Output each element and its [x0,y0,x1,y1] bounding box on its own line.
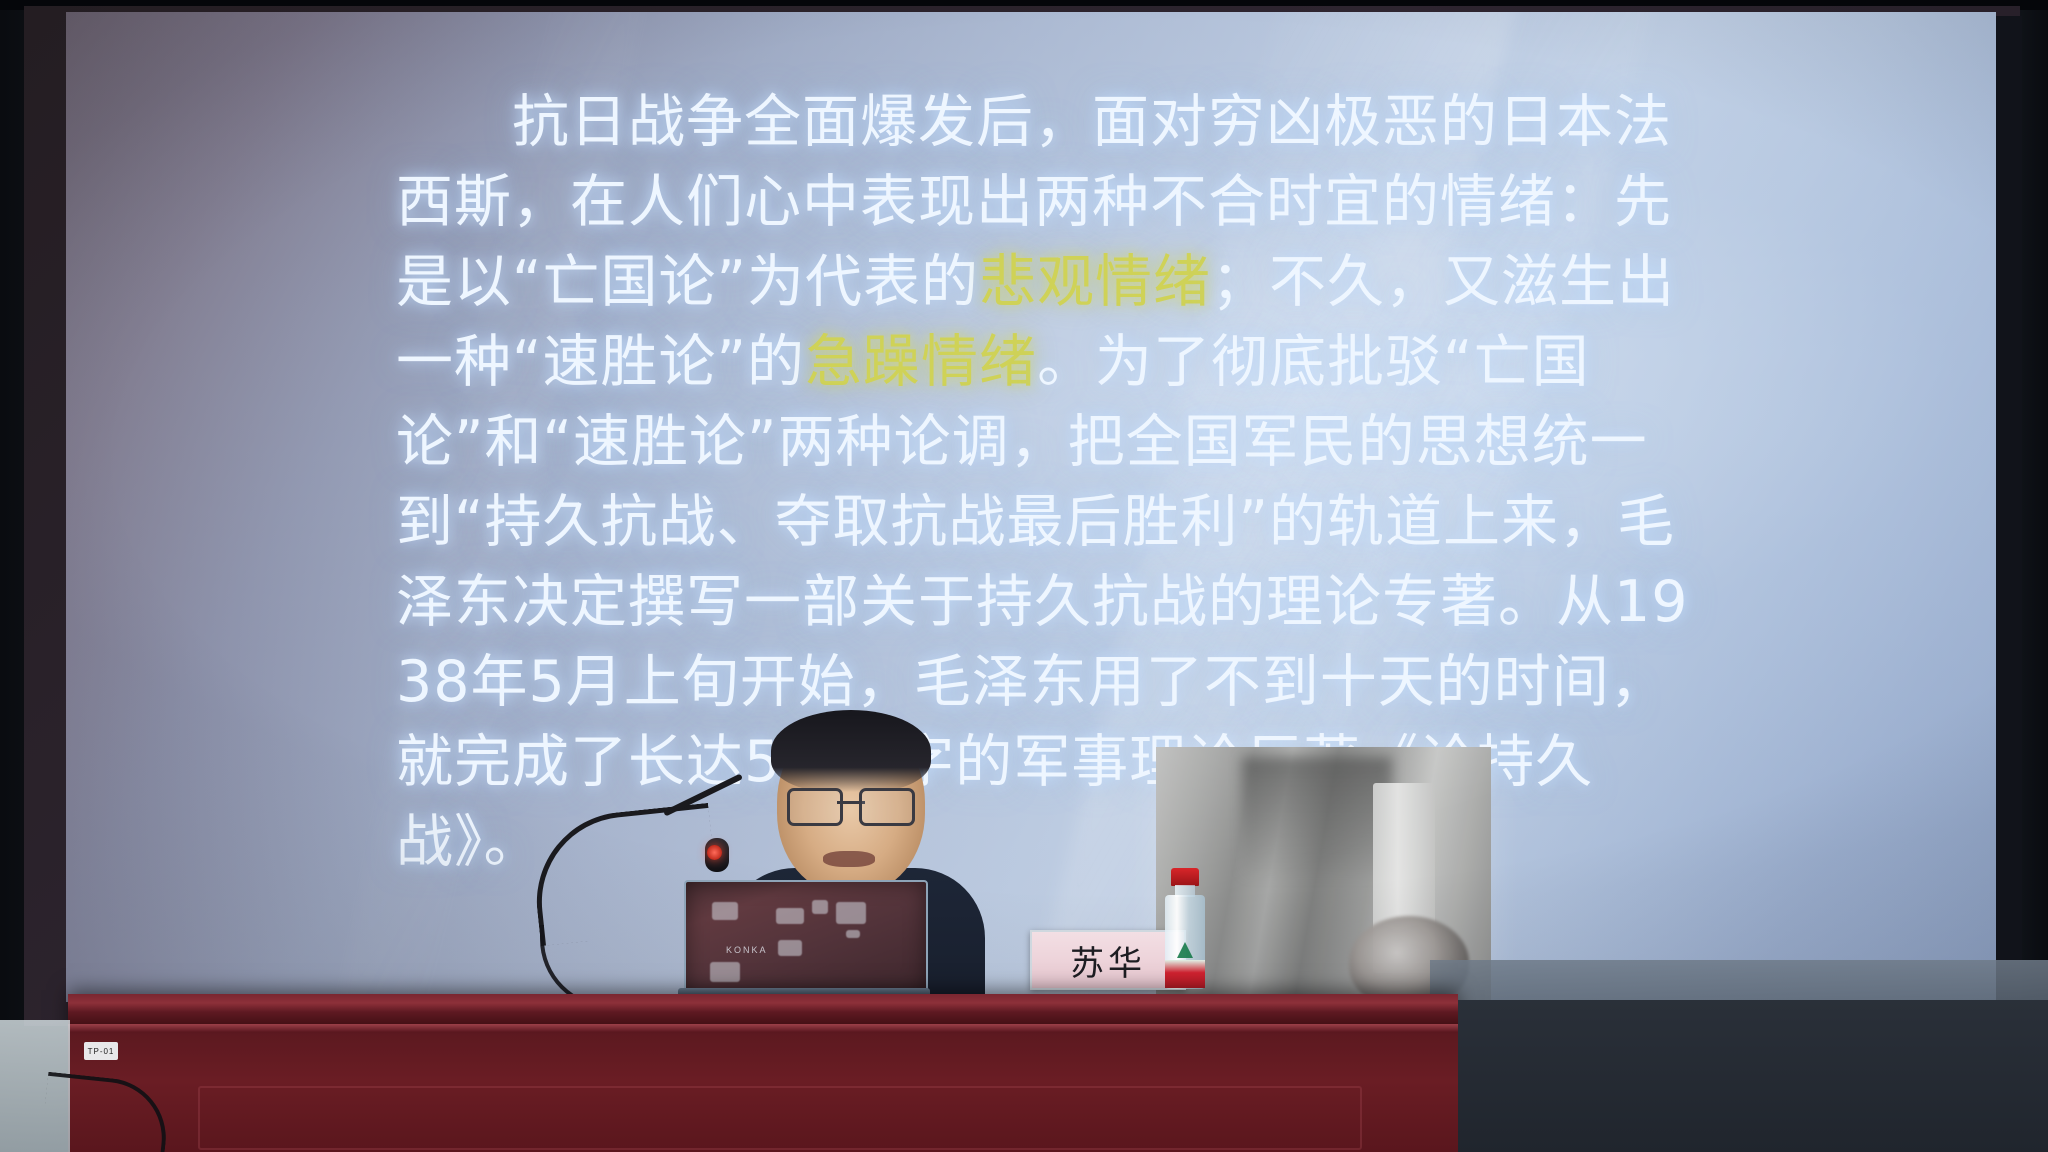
laptop-sticker [836,902,866,924]
glasses-left-lens [787,788,843,826]
laptop-sticker [778,940,802,956]
podium-right-section [1458,1000,2048,1152]
podium-label-tag: TP-01 [84,1042,118,1060]
laptop-brand-label: KONKA [726,945,768,955]
laptop-lid: KONKA [684,880,928,996]
projected-slide: 抗日战争全面爆发后，面对穷凶极恶的日本法西斯，在人们心中表现出两种不合时宜的情绪… [66,12,1996,1002]
podium-front-panel [198,1086,1362,1150]
microphone-indicator-light[interactable] [707,845,722,860]
slide-highlight-phrase: 急躁情绪 [805,329,1037,395]
slide-body-text: 抗日战争全面爆发后，面对穷凶极恶的日本法西斯，在人们心中表现出两种不合时宜的情绪… [396,82,1696,882]
podium-trim [68,1024,1458,1032]
speaker-nameplate: 苏华 [1030,930,1186,990]
photo-shadow-area [1242,757,1392,877]
speaker-glasses [787,788,915,822]
laptop-sticker [776,908,804,924]
slide-text-run: 。为了彻底批驳“亡国论”和“速胜论”两种论调，把全国军民的思想统一到“持久抗战、… [396,329,1689,875]
laptop-sticker [846,930,860,938]
laptop-sticker [812,900,828,914]
speaker-hair [771,710,931,792]
laptop-sticker [710,962,740,982]
podium [68,994,1458,1152]
laptop[interactable]: KONKA [684,880,924,1000]
laptop-sticker [712,902,738,920]
podium-top-edge [68,994,1458,1024]
bottle-cap [1171,868,1199,886]
slide-highlight-phrase: 悲观情绪 [979,249,1211,315]
lecture-hall-photo: 抗日战争全面爆发后，面对穷凶极恶的日本法西斯，在人们心中表现出两种不合时宜的情绪… [0,0,2048,1152]
glasses-right-lens [859,788,915,826]
bottle-label [1165,960,1205,988]
nameplate-text: 苏华 [1070,936,1146,985]
water-bottle[interactable] [1164,868,1206,988]
speaker-mouth [823,851,875,867]
